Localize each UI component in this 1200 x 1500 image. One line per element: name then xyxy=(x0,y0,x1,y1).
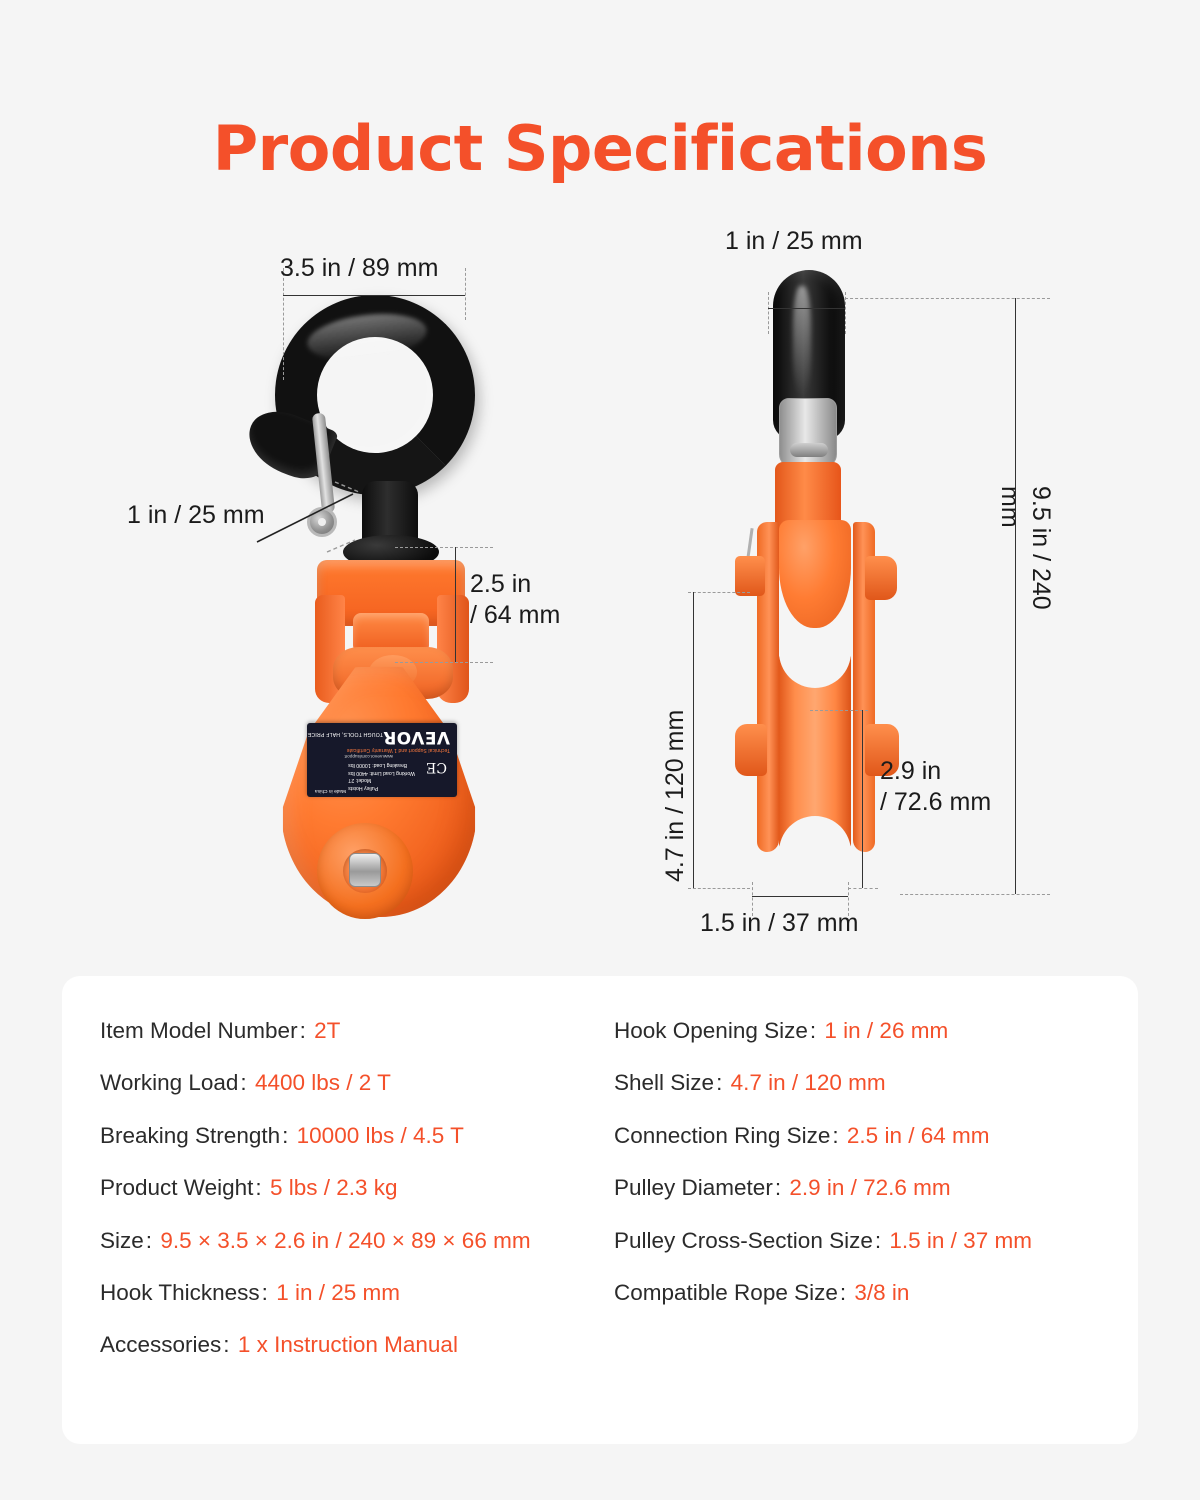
dim-ext-diameter-top xyxy=(810,710,868,711)
label-brand: VEVOR xyxy=(383,727,450,747)
upper-hub-block xyxy=(779,520,851,628)
spec-key: Breaking Strength xyxy=(100,1123,280,1148)
ce-mark-icon: CE xyxy=(426,759,447,775)
spec-row: Size: 9.5 × 3.5 × 2.6 in / 240 × 89 × 66… xyxy=(100,1228,604,1254)
dim-ext-shell-bottom xyxy=(688,888,750,889)
product-diagrams: VEVOR TOUGH TOOLS, HALF PRICE Technical … xyxy=(0,210,1200,970)
dim-ext-diameter-bottom xyxy=(848,888,878,889)
label-warranty: Technical Support and 1 Warranty Certifi… xyxy=(347,747,450,753)
spec-row: Pulley Cross-Section Size: 1.5 in / 37 m… xyxy=(614,1228,1108,1254)
callout-leader-hook-thickness xyxy=(255,480,375,555)
specifications-card: Item Model Number: 2T Working Load: 4400… xyxy=(62,976,1138,1444)
spec-value: 4.7 in / 120 mm xyxy=(731,1070,886,1095)
spec-value: 3/8 in xyxy=(854,1280,909,1305)
spec-key: Compatible Rope Size xyxy=(614,1280,838,1305)
spec-value: 9.5 × 3.5 × 2.6 in / 240 × 89 × 66 mm xyxy=(160,1228,530,1253)
spec-row: Breaking Strength: 10000 lbs / 4.5 T xyxy=(100,1123,604,1149)
dim-line-hook-top-width xyxy=(768,308,845,309)
spec-row: Item Model Number: 2T xyxy=(100,1018,604,1044)
spec-separator: : xyxy=(260,1280,270,1305)
hex-bolt-top-left xyxy=(735,556,765,596)
spec-row: Compatible Rope Size: 3/8 in xyxy=(614,1280,1108,1306)
callout-hook-thickness: 1 in / 25 mm xyxy=(127,500,265,531)
callout-overall-height: 9.5 in / 240 mm xyxy=(995,486,1056,630)
spec-separator: : xyxy=(221,1332,231,1357)
spec-key: Accessories xyxy=(100,1332,221,1357)
label-working-load: Working Load Limit: 4400 lbs xyxy=(348,768,415,776)
spec-row: Pulley Diameter: 2.9 in / 72.6 mm xyxy=(614,1175,1108,1201)
spec-separator: : xyxy=(830,1123,840,1148)
page-title: Product Specifications xyxy=(0,112,1200,185)
label-model: Model: 2T xyxy=(348,776,415,784)
spec-value: 1 in / 26 mm xyxy=(824,1018,948,1043)
callout-shell-size: 4.7 in / 120 mm xyxy=(660,710,691,882)
spec-row: Hook Thickness: 1 in / 25 mm xyxy=(100,1280,604,1306)
callout-hook-width: 3.5 in / 89 mm xyxy=(280,253,438,284)
spec-row: Working Load: 4400 lbs / 2 T xyxy=(100,1070,604,1096)
dim-ext-shell-top xyxy=(688,592,750,593)
spec-value: 4400 lbs / 2 T xyxy=(255,1070,391,1095)
dim-ext-height-bottom xyxy=(900,894,1050,895)
spec-row: Hook Opening Size: 1 in / 26 mm xyxy=(614,1018,1108,1044)
spec-separator: : xyxy=(144,1228,154,1253)
spec-value: 2T xyxy=(314,1018,340,1043)
spec-separator: : xyxy=(238,1070,248,1095)
spec-separator: : xyxy=(808,1018,818,1043)
spec-key: Product Weight xyxy=(100,1175,253,1200)
vevor-product-label: VEVOR TOUGH TOOLS, HALF PRICE Technical … xyxy=(307,723,457,797)
label-support-url: www.vevor.com/support xyxy=(344,754,393,759)
spec-row: Connection Ring Size: 2.5 in / 64 mm xyxy=(614,1123,1108,1149)
dim-ext-height-top xyxy=(845,298,1050,299)
dim-ext-top-1 xyxy=(768,292,769,334)
spec-key: Pulley Diameter xyxy=(614,1175,773,1200)
dim-line-connection-ring xyxy=(455,547,456,662)
label-origin: Made in China xyxy=(315,788,346,793)
spec-key: Working Load xyxy=(100,1070,238,1095)
hex-bolt-top-right xyxy=(865,556,897,600)
label-specs: Pulley Hoists Model: 2T Working Load Lim… xyxy=(348,761,415,791)
label-breaking-load: Breaking Load: 10000 lbs xyxy=(348,761,415,769)
spec-value: 1 in / 25 mm xyxy=(276,1280,400,1305)
dim-line-hook-width xyxy=(283,295,465,296)
spec-row: Accessories: 1 x Instruction Manual xyxy=(100,1332,604,1358)
spec-value: 1.5 in / 37 mm xyxy=(889,1228,1032,1253)
dim-line-pulley-diameter xyxy=(862,710,863,888)
spec-key: Item Model Number xyxy=(100,1018,298,1043)
spec-row: Shell Size: 4.7 in / 120 mm xyxy=(614,1070,1108,1096)
label-product: Pulley Hoists xyxy=(348,783,415,791)
spec-key: Pulley Cross-Section Size xyxy=(614,1228,873,1253)
spec-separator: : xyxy=(280,1123,290,1148)
label-tagline: TOUGH TOOLS, HALF PRICE xyxy=(307,731,383,738)
specifications-right-column: Hook Opening Size: 1 in / 26 mm Shell Si… xyxy=(604,1018,1108,1385)
dim-line-shell-size xyxy=(693,592,694,888)
center-bolt-icon xyxy=(349,853,381,887)
dim-ext-left-1 xyxy=(283,268,284,380)
hex-bolt-bottom-left xyxy=(735,724,767,776)
callout-connection-ring: 2.5 in / 64 mm xyxy=(470,569,560,630)
spec-key: Hook Thickness xyxy=(100,1280,260,1305)
spec-key: Connection Ring Size xyxy=(614,1123,830,1148)
spec-separator: : xyxy=(873,1228,883,1253)
spec-separator: : xyxy=(253,1175,263,1200)
spec-separator: : xyxy=(773,1175,783,1200)
spec-value: 1 x Instruction Manual xyxy=(238,1332,458,1357)
product-specifications-page: Product Specifications VEVOR TOUGH TOOLS… xyxy=(0,0,1200,1500)
spec-separator: : xyxy=(714,1070,724,1095)
spec-value: 2.9 in / 72.6 mm xyxy=(789,1175,950,1200)
spec-value: 10000 lbs / 4.5 T xyxy=(297,1123,464,1148)
hook-side-highlight xyxy=(793,286,811,396)
spec-key: Shell Size xyxy=(614,1070,714,1095)
specifications-columns: Item Model Number: 2T Working Load: 4400… xyxy=(100,1018,1108,1385)
callout-pulley-diameter: 2.9 in / 72.6 mm xyxy=(880,756,991,817)
dim-ext-left-2 xyxy=(465,268,466,320)
spec-value: 5 lbs / 2.3 kg xyxy=(270,1175,398,1200)
specifications-left-column: Item Model Number: 2T Working Load: 4400… xyxy=(100,1018,604,1385)
callout-hook-top-width: 1 in / 25 mm xyxy=(725,226,863,257)
callout-cross-section: 1.5 in / 37 mm xyxy=(700,908,858,939)
pulley-side-view-illustration xyxy=(735,270,925,920)
spec-separator: : xyxy=(838,1280,848,1305)
spec-separator: : xyxy=(298,1018,308,1043)
spec-key: Size xyxy=(100,1228,144,1253)
safety-latch-side xyxy=(779,398,837,468)
dim-ext-ring-bottom xyxy=(395,662,493,663)
dim-ext-ring-top xyxy=(395,547,493,548)
spec-key: Hook Opening Size xyxy=(614,1018,808,1043)
spec-value: 2.5 in / 64 mm xyxy=(847,1123,990,1148)
spec-row: Product Weight: 5 lbs / 2.3 kg xyxy=(100,1175,604,1201)
dim-line-cross-section xyxy=(752,896,848,897)
